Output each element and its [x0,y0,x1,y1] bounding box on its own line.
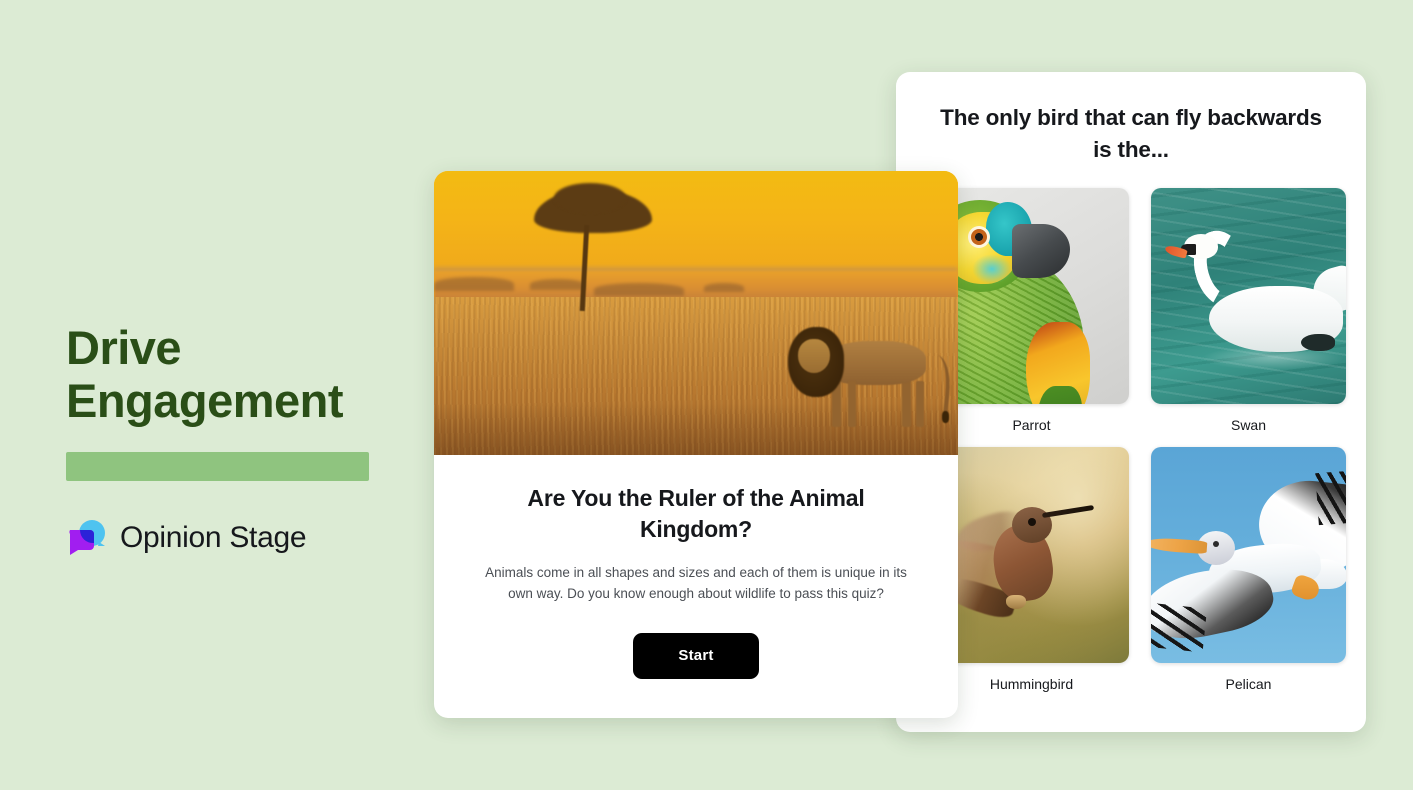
poll-option-label: Parrot [934,417,1129,433]
quiz-title: Are You the Ruler of the Animal Kingdom? [476,483,916,545]
savanna-lion-sunset-photo [434,171,958,455]
poll-option-parrot[interactable]: Parrot [934,188,1129,433]
speech-bubbles-icon [66,519,108,557]
quiz-card-body: Are You the Ruler of the Animal Kingdom?… [434,455,958,679]
headline-line-1: Drive [66,322,396,375]
poll-option-hummingbird[interactable]: Hummingbird [934,447,1129,692]
brand-name-label: Opinion Stage [120,521,306,555]
lion-figure [774,313,954,438]
poll-option-pelican[interactable]: Pelican [1151,447,1346,692]
headline-line-2: Engagement [66,375,396,428]
sunset-sky [434,171,958,276]
poll-question-card[interactable]: The only bird that can fly backwards is … [896,72,1366,732]
start-button[interactable]: Start [633,633,759,679]
accent-bar-divider [66,452,369,481]
page-title: Drive Engagement [66,322,396,427]
acacia-tree-icon [524,189,659,314]
poll-option-label: Hummingbird [934,676,1129,692]
poll-options-grid: Parrot Swan [896,166,1366,692]
swan-photo[interactable] [1151,188,1346,404]
hummingbird-photo[interactable] [934,447,1129,663]
parrot-photo[interactable] [934,188,1129,404]
quiz-intro-card[interactable]: Are You the Ruler of the Animal Kingdom?… [434,171,958,718]
pelican-photo[interactable] [1151,447,1346,663]
poll-option-swan[interactable]: Swan [1151,188,1346,433]
horizon-bush [434,277,514,291]
left-promo-panel: Drive Engagement Opinion Stage [66,322,396,557]
poll-question-text: The only bird that can fly backwards is … [896,72,1366,166]
brand-lockup: Opinion Stage [66,519,396,557]
poll-option-label: Pelican [1151,676,1346,692]
poll-option-label: Swan [1151,417,1346,433]
horizon-bush [704,283,744,292]
quiz-description: Animals come in all shapes and sizes and… [476,563,916,605]
